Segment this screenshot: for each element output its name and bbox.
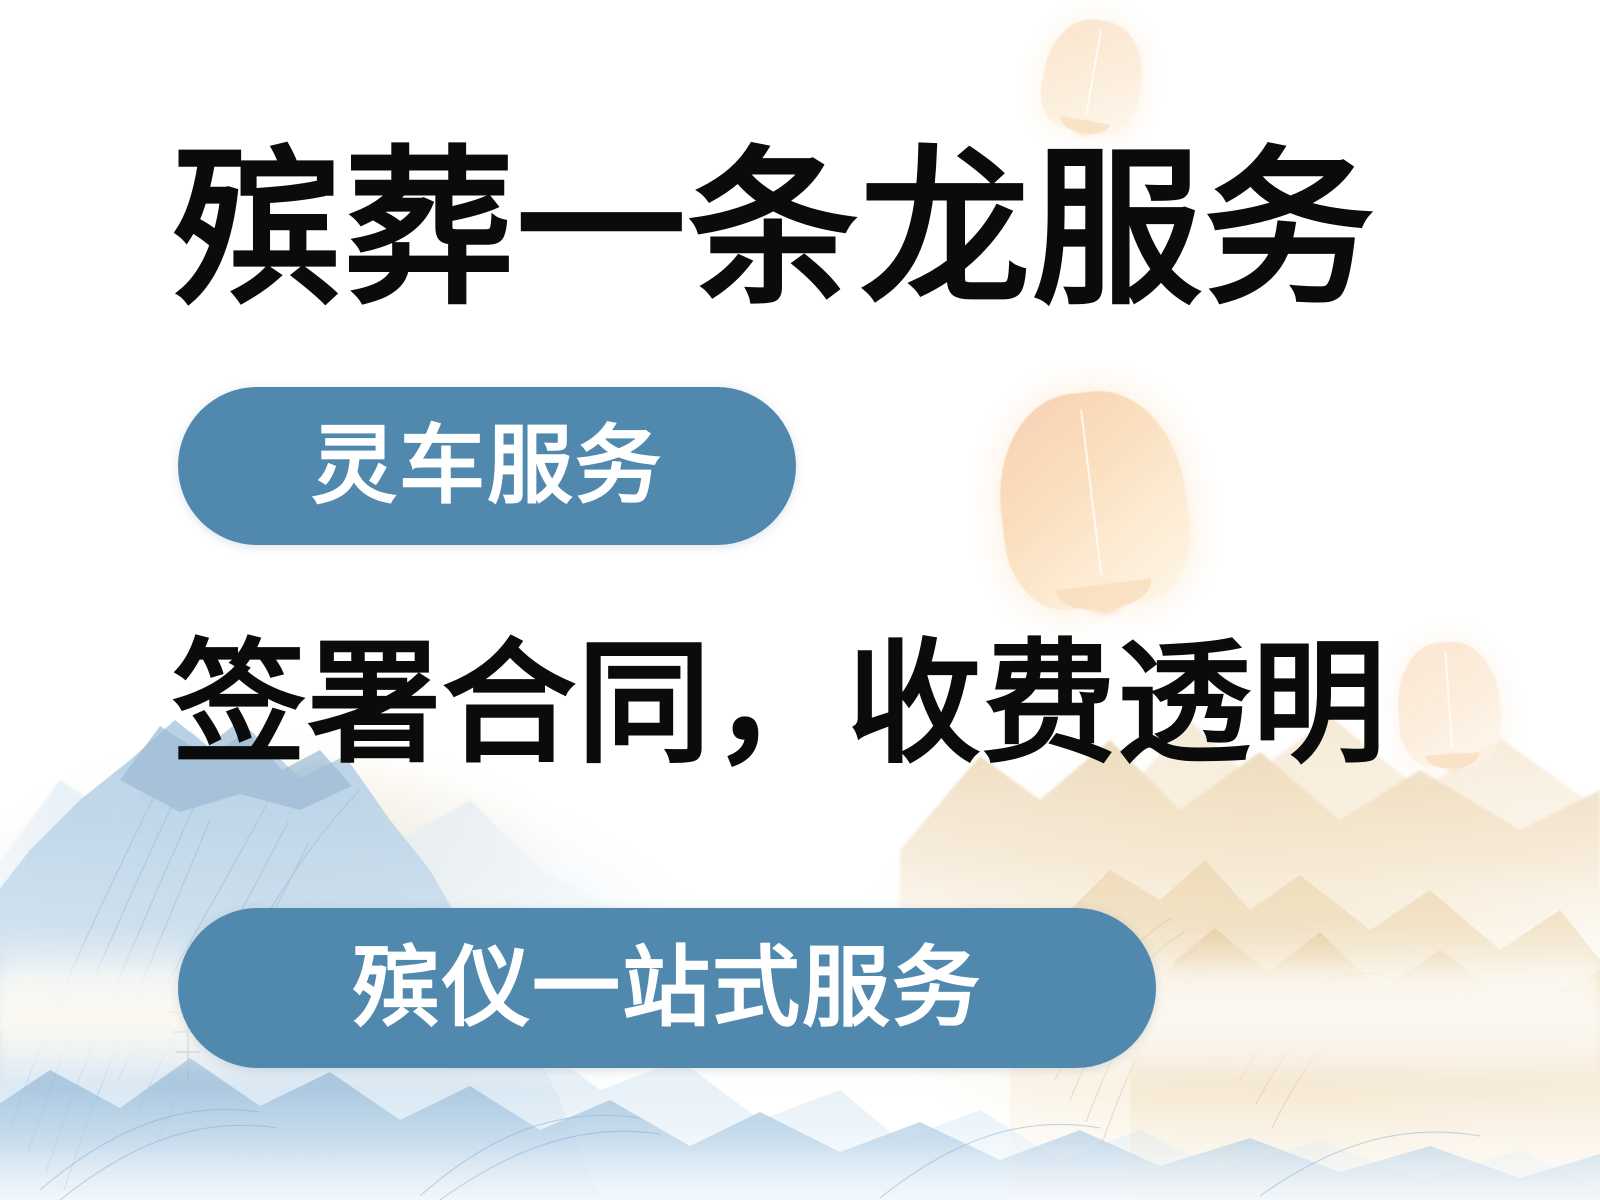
sky-lantern-small-top-icon — [1035, 12, 1151, 139]
hearse-service-pill[interactable]: 灵车服务 — [178, 387, 796, 545]
page-title: 殡葬一条龙服务 — [172, 146, 1376, 316]
one-stop-service-pill-label: 殡仪一站式服务 — [352, 944, 982, 1032]
poster-canvas: 殡葬一条龙服务 灵车服务 签署合同，收费透明 殡仪一站式服务 — [0, 0, 1600, 1200]
one-stop-service-pill[interactable]: 殡仪一站式服务 — [178, 908, 1156, 1068]
hearse-service-pill-label: 灵车服务 — [311, 423, 663, 509]
sky-lantern-large-icon — [988, 381, 1199, 616]
contract-transparency-subtitle: 签署合同，收费透明 — [172, 638, 1387, 772]
